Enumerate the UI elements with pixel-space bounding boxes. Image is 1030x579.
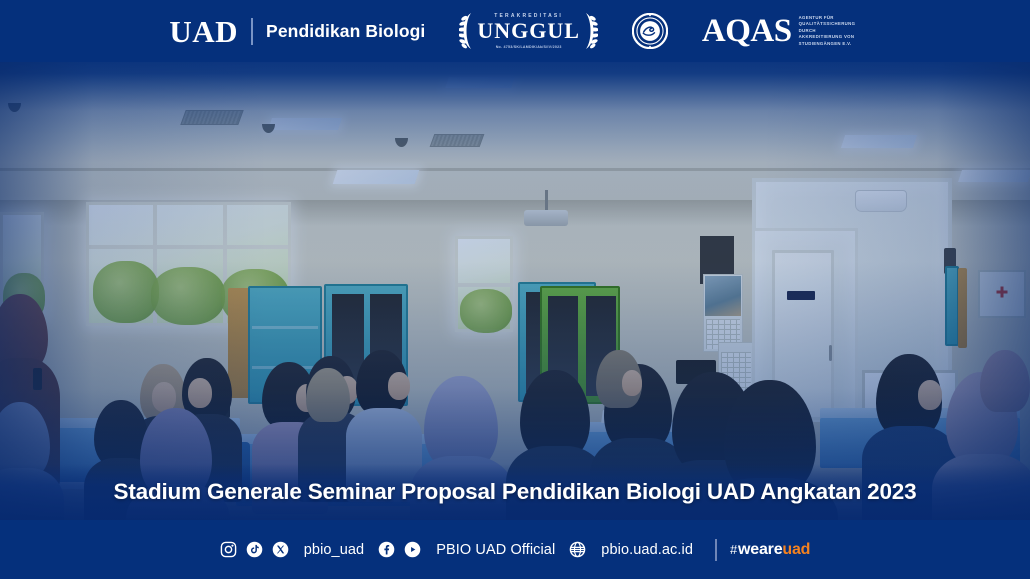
accreditation-decree: No. 4753/SK/LAMDIK/Ak/S/IV/2023 — [496, 45, 562, 49]
ban-pt-seal-icon — [632, 13, 668, 49]
x-twitter-icon[interactable] — [272, 541, 289, 558]
hashtag-second: uad — [782, 541, 810, 558]
website-url[interactable]: pbio.uad.ac.id — [601, 542, 693, 558]
hash-symbol: # — [730, 542, 737, 557]
vertical-divider — [251, 18, 253, 45]
instagram-handle[interactable]: pbio_uad — [304, 542, 364, 558]
laurel-wreath-icon — [459, 11, 474, 51]
photo-side-vignette — [0, 50, 1030, 520]
weareuad-hashtag: #weareuad — [730, 541, 810, 559]
globe-icon[interactable] — [569, 541, 586, 558]
event-banner: UAD Pendidikan Biologi — [0, 0, 1030, 579]
facebook-icon[interactable] — [378, 541, 395, 558]
social-group-website: pbio.uad.ac.id — [569, 541, 705, 558]
aqas-lockup: AQAS Agentur für Qualitätssicherung durc… — [702, 15, 861, 48]
classroom-photo — [0, 50, 1030, 520]
banner-header: UAD Pendidikan Biologi — [0, 0, 1030, 62]
tiktok-icon[interactable] — [246, 541, 263, 558]
uad-acronym: UAD — [169, 16, 238, 47]
social-group-instagram: pbio_uad — [220, 541, 378, 558]
facebook-handle[interactable]: PBIO UAD Official — [436, 542, 555, 558]
laurel-wreath-icon-right — [583, 11, 598, 51]
photo-scene — [0, 50, 1030, 520]
title-band: Stadium Generale Seminar Proposal Pendid… — [0, 464, 1030, 520]
hashtag-first: weare — [738, 541, 782, 558]
aqas-description: Agentur für Qualitätssicherung durch Akk… — [799, 15, 861, 47]
social-group-facebook: PBIO UAD Official — [378, 541, 569, 558]
uad-brand-lockup: UAD Pendidikan Biologi — [169, 16, 425, 47]
banner-footer: pbio_uad PBIO UAD Official pbio.uad.ac.i… — [0, 520, 1030, 579]
accreditation-grade: UNGGUL — [477, 20, 580, 42]
accreditation-badge: TERAKREDITASI UNGGUL No. 4753/SK/LAMDIK/… — [459, 8, 598, 54]
youtube-icon[interactable] — [404, 541, 421, 558]
aqas-acronym: AQAS — [702, 15, 792, 48]
footer-divider — [715, 539, 717, 561]
instagram-icon[interactable] — [220, 541, 237, 558]
program-name: Pendidikan Biologi — [266, 21, 425, 42]
event-title: Stadium Generale Seminar Proposal Pendid… — [114, 479, 917, 505]
